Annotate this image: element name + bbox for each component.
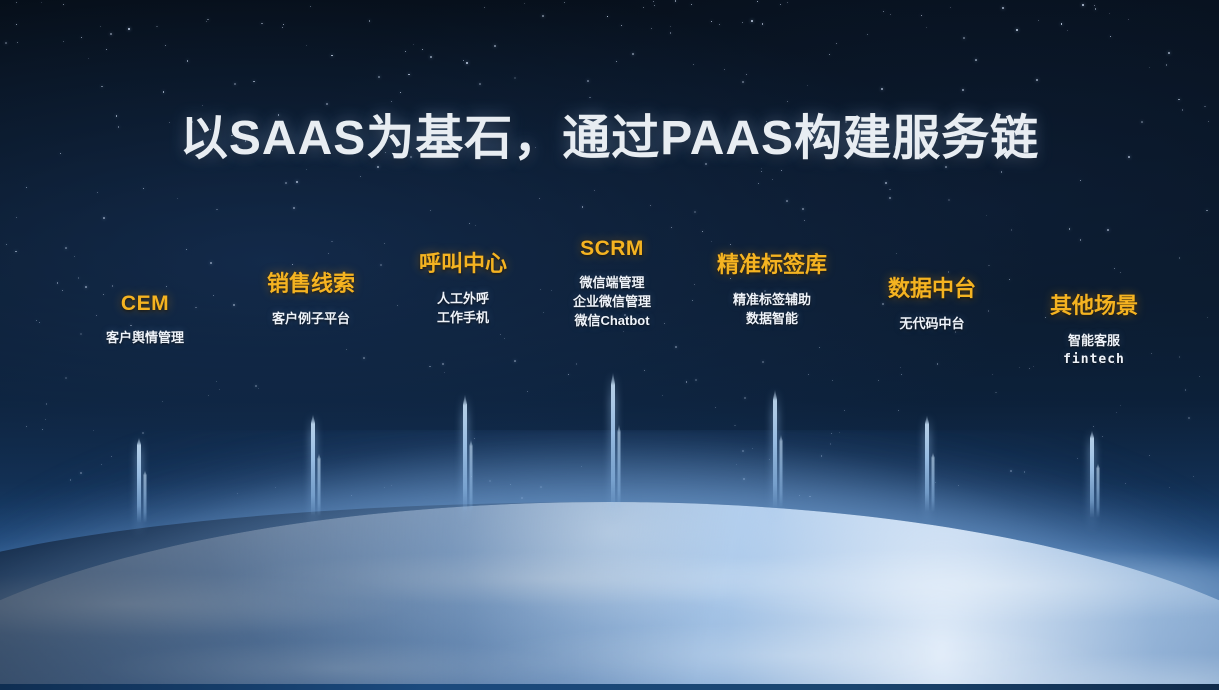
- pillar-subtitles-sales-leads: 客户例子平台: [267, 310, 355, 329]
- pillar-title-scrm: SCRM: [573, 237, 651, 260]
- pillar-subtitle: 企业微信管理: [573, 293, 651, 312]
- pillar-cem[interactable]: CEM客户舆情管理: [106, 292, 184, 348]
- pillar-subtitle: 微信端管理: [573, 274, 651, 293]
- pillar-sales-leads[interactable]: 销售线索客户例子平台: [267, 272, 355, 329]
- pillar-subtitle: 精准标签辅助: [717, 291, 827, 310]
- pillar-subtitles-data-middle-platform: 无代码中台: [888, 315, 976, 334]
- pillar-title-other-scenarios: 其他场景: [1050, 294, 1138, 318]
- pillar-subtitle: 智能客服: [1050, 332, 1138, 351]
- pillar-subtitle: fintech: [1050, 351, 1138, 370]
- pillar-subtitle: 客户例子平台: [267, 310, 355, 329]
- pillar-subtitles-precision-tag-library: 精准标签辅助数据智能: [717, 291, 827, 329]
- pillar-subtitle: 客户舆情管理: [106, 329, 184, 348]
- pillar-title-call-center: 呼叫中心: [419, 252, 507, 276]
- pillar-call-center[interactable]: 呼叫中心人工外呼工作手机: [419, 252, 507, 328]
- pillar-title-cem: CEM: [106, 292, 184, 315]
- pillar-other-scenarios[interactable]: 其他场景智能客服fintech: [1050, 294, 1138, 370]
- pillar-subtitles-other-scenarios: 智能客服fintech: [1050, 332, 1138, 370]
- pillar-subtitle: 人工外呼: [419, 290, 507, 309]
- pillar-data-middle-platform[interactable]: 数据中台无代码中台: [888, 277, 976, 334]
- pillar-subtitle: 数据智能: [717, 310, 827, 329]
- pillar-scrm[interactable]: SCRM微信端管理企业微信管理微信Chatbot: [573, 237, 651, 331]
- pillar-title-data-middle-platform: 数据中台: [888, 277, 976, 301]
- bottom-accent-bar: [0, 684, 1219, 690]
- page-title: 以SAAS为基石，通过PAAS构建服务链: [0, 98, 1219, 168]
- pillar-subtitle: 工作手机: [419, 309, 507, 328]
- pillar-title-precision-tag-library: 精准标签库: [717, 253, 827, 277]
- planet-earth: [0, 430, 1219, 690]
- pillar-precision-tag-library[interactable]: 精准标签库精准标签辅助数据智能: [717, 253, 827, 329]
- pillar-subtitle: 微信Chatbot: [573, 312, 651, 331]
- slide-canvas: 以SAAS为基石，通过PAAS构建服务链 CEM客户舆情管理销售线索客户例子平台…: [0, 0, 1219, 690]
- shadow-terminator: [0, 502, 1219, 690]
- pillar-title-sales-leads: 销售线索: [267, 272, 355, 296]
- pillar-subtitles-call-center: 人工外呼工作手机: [419, 290, 507, 328]
- pillar-subtitles-scrm: 微信端管理企业微信管理微信Chatbot: [573, 274, 651, 331]
- pillar-subtitle: 无代码中台: [888, 315, 976, 334]
- pillar-subtitles-cem: 客户舆情管理: [106, 329, 184, 348]
